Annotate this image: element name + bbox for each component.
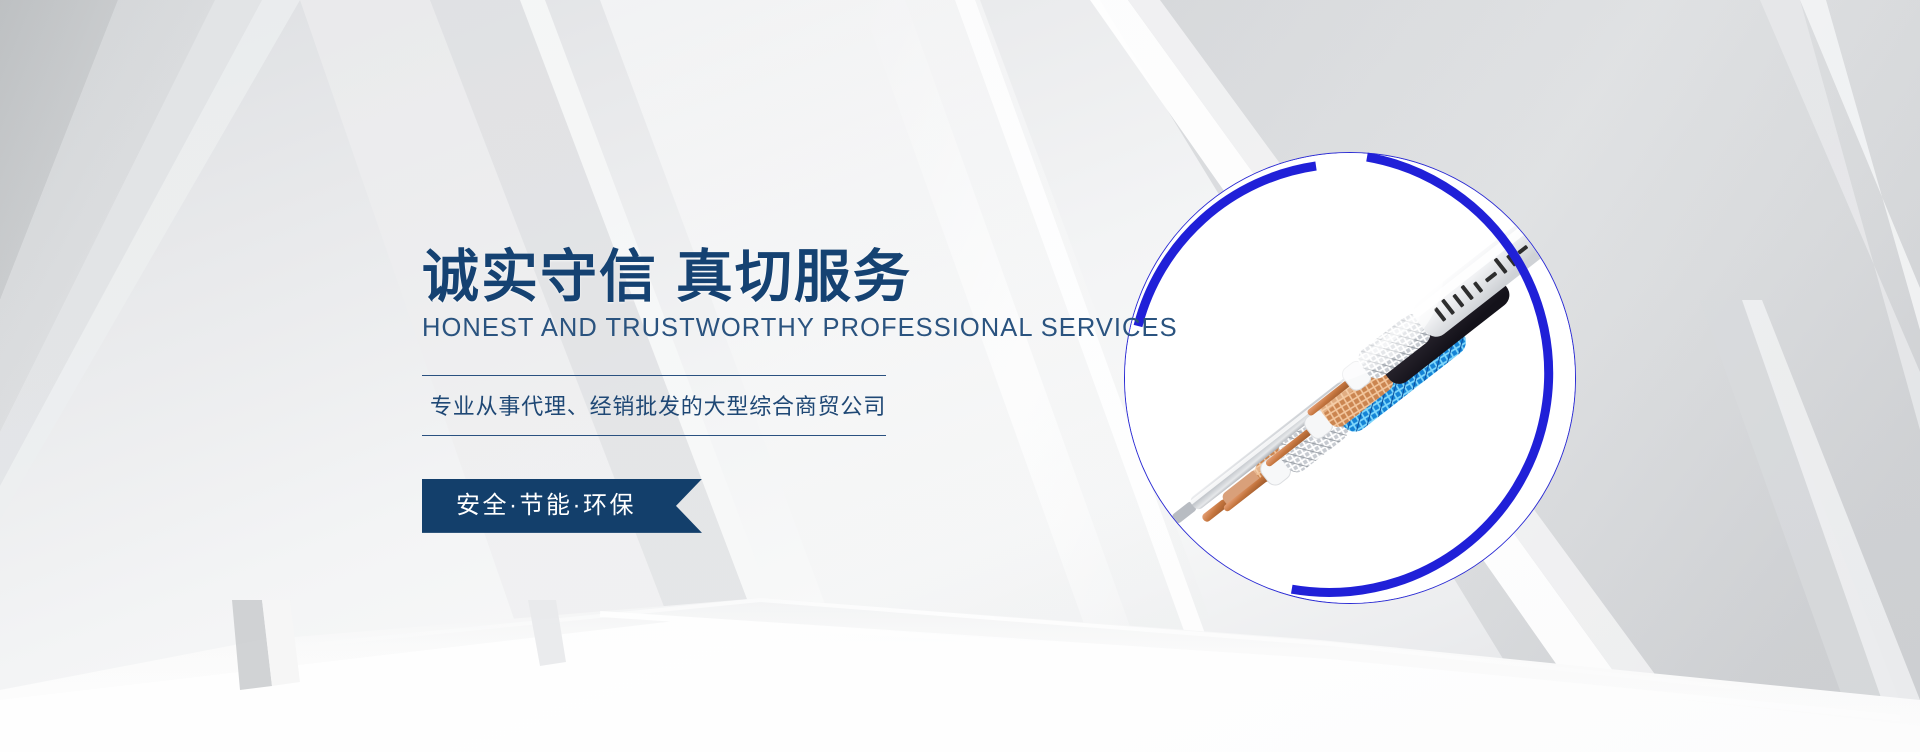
banner-description: 专业从事代理、经销批发的大型综合商贸公司 [422,389,886,421]
banner-title: 诚实守信 真切服务 [422,246,1122,310]
banner-description-rules: 专业从事代理、经销批发的大型综合商贸公司 [422,375,886,436]
medallion-ring-decoration [1102,130,1598,626]
ring-arc-thick-right [1248,140,1571,597]
promo-banner: 诚实守信 真切服务 HONEST AND TRUSTWORTHY PROFESS… [0,0,1920,752]
banner-subtitle: HONEST AND TRUSTWORTHY PROFESSIONAL SERV… [422,314,1122,343]
banner-content: 诚实守信 真切服务 HONEST AND TRUSTWORTHY PROFESS… [422,246,1122,533]
product-medallion [1124,152,1576,604]
banner-tag-ribbon: 安全·节能·环保 [422,479,702,533]
